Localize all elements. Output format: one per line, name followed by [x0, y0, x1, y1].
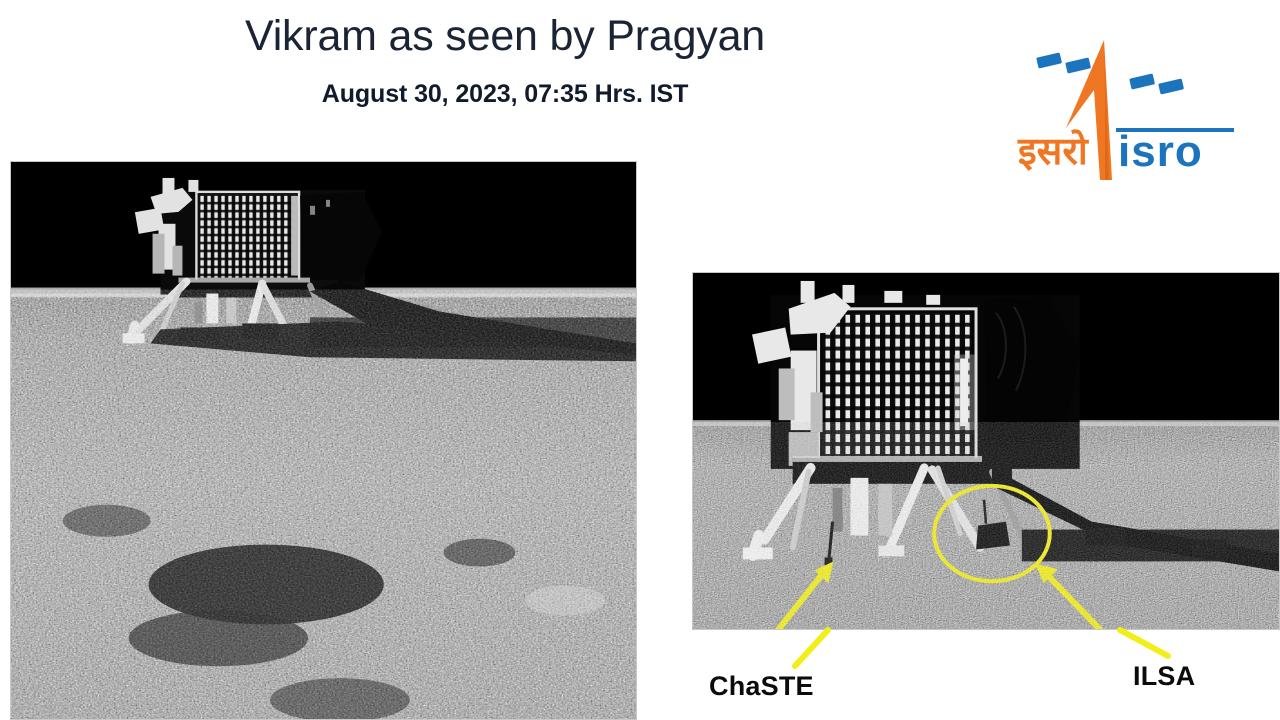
isro-logo-svg: इसरो isro: [1008, 32, 1240, 180]
page-subtitle-timestamp: August 30, 2023, 07:35 Hrs. IST: [0, 80, 1010, 109]
page-title: Vikram as seen by Pragyan: [0, 14, 1010, 59]
satellite-panel-icon-right: [1129, 73, 1184, 94]
chaste-leader-line: [795, 630, 828, 666]
logo-text-devanagari: इसरो: [1017, 129, 1089, 173]
logo-text-latin: isro: [1118, 127, 1203, 176]
vikram-lander-wide-photo: [10, 161, 637, 720]
ilsa-leader-line: [1120, 630, 1168, 656]
vikram-lander-closeup-photo-svg: [693, 273, 1279, 629]
solar-panel: [196, 192, 299, 282]
satellite-panel-icon-left: [1036, 52, 1091, 73]
vikram-lander-wide-photo-svg: [11, 162, 636, 719]
annotation-label-ilsa: ILSA: [1133, 661, 1195, 692]
isro-logo: इसरो isro: [1008, 32, 1240, 180]
annotation-label-chaste: ChaSTE: [709, 671, 814, 702]
vikram-lander-closeup-photo: [692, 272, 1280, 630]
vikram-lander-body: [135, 178, 382, 298]
